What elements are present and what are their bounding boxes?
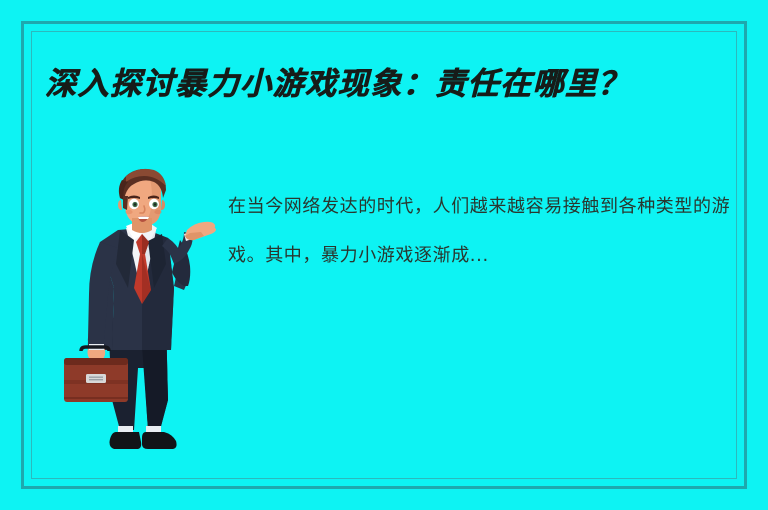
article-body-text: 在当今网络发达的时代，人们越来越容易接触到各种类型的游戏。其中，暴力小游戏逐渐成… xyxy=(228,182,733,280)
businessman-illustration xyxy=(56,168,218,480)
article-title: 深入探讨暴力小游戏现象：责任在哪里？ xyxy=(45,58,735,110)
article-card: 深入探讨暴力小游戏现象：责任在哪里？ 在当今网络发达的时代，人们越来越容易接触到… xyxy=(0,0,768,510)
businessman-icon xyxy=(56,168,218,480)
